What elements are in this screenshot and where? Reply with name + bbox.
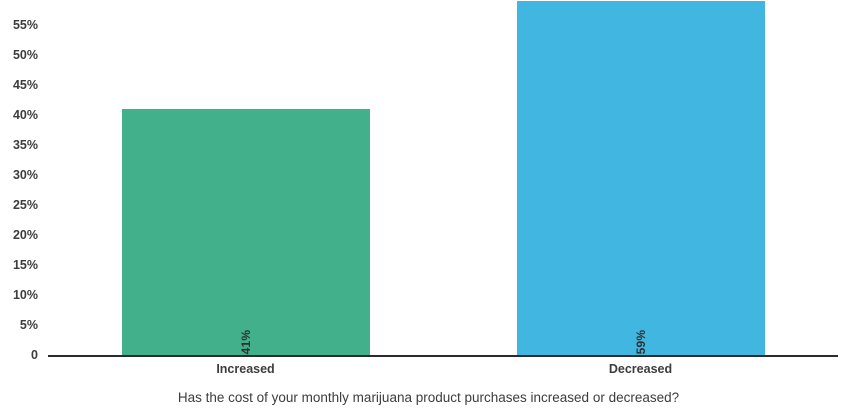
y-tick-label: 30% [13, 169, 38, 182]
x-axis-title: Has the cost of your monthly marijuana p… [0, 390, 857, 405]
y-tick-label: 10% [13, 289, 38, 302]
y-tick-label: 50% [13, 49, 38, 62]
bar[interactable]: 41% [122, 109, 370, 355]
y-tick-label: 55% [13, 19, 38, 32]
y-tick-label: 35% [13, 139, 38, 152]
y-tick-label: 20% [13, 229, 38, 242]
x-axis-line [48, 355, 838, 357]
bar-value-label: 59% [634, 330, 648, 355]
bar-series: 41%59% [48, 10, 838, 355]
bar-value-label: 41% [239, 330, 253, 355]
y-tick-label: 15% [13, 259, 38, 272]
y-tick-label: 0 [31, 349, 38, 362]
bar-group: 41% [122, 10, 370, 355]
bar-group: 59% [517, 10, 765, 355]
y-tick-label: 40% [13, 109, 38, 122]
plot-area: 41%59% [48, 10, 838, 355]
bar[interactable]: 59% [517, 1, 765, 355]
y-tick-label: 25% [13, 199, 38, 212]
x-tick-labels: IncreasedDecreased [48, 362, 838, 384]
x-tick-label: Decreased [517, 362, 765, 376]
y-axis: 05%10%15%20%25%30%35%40%45%50%55% [0, 10, 44, 355]
bar-chart: 05%10%15%20%25%30%35%40%45%50%55% 41%59%… [0, 0, 857, 418]
y-tick-label: 45% [13, 79, 38, 92]
y-tick-label: 5% [20, 319, 38, 332]
x-tick-label: Increased [122, 362, 370, 376]
